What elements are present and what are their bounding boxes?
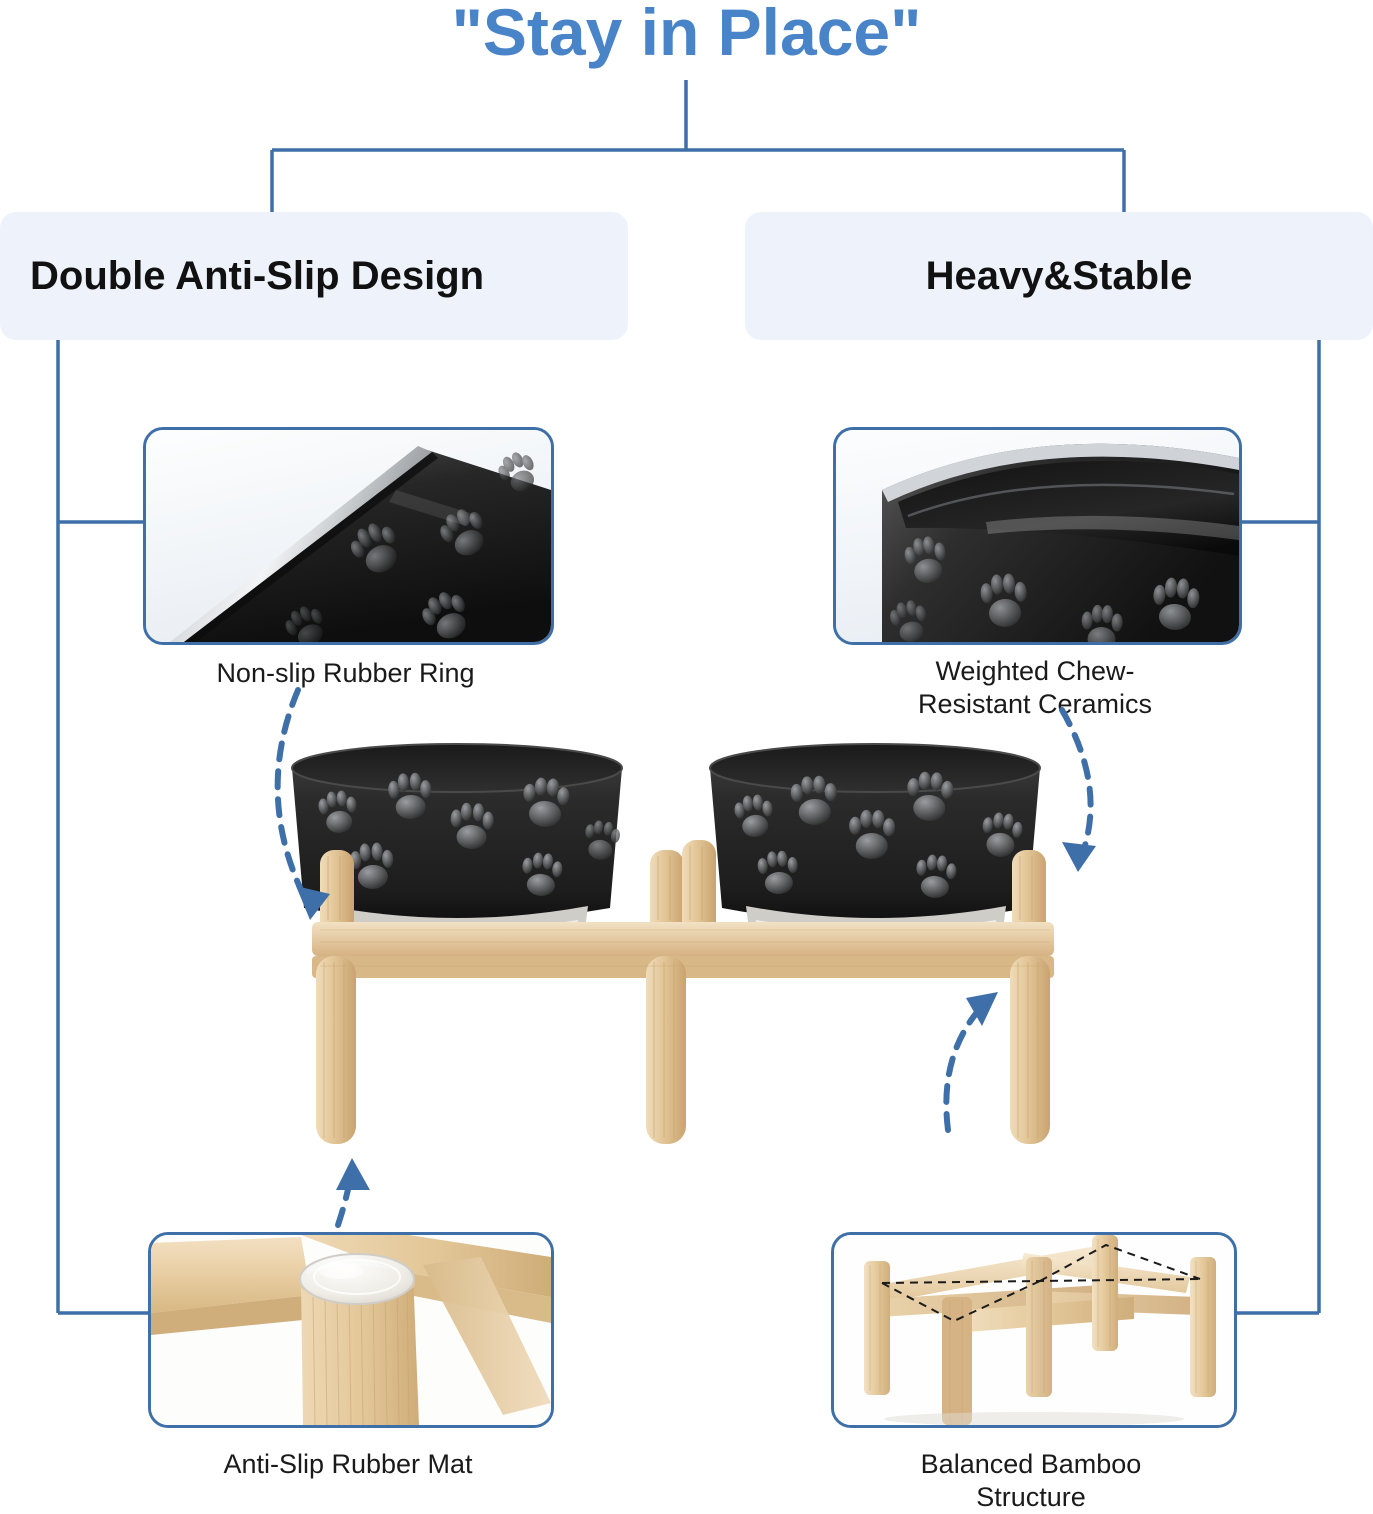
photo-weighted-chew-resistant-ceramics [833, 427, 1242, 645]
header-left-label: Double Anti-Slip Design [0, 254, 484, 299]
infographic-stage: "Stay in Place" Double Anti-Slip Design … [0, 0, 1373, 1500]
caption-anti-slip-rubber-mat: Anti-Slip Rubber Mat [148, 1448, 548, 1481]
hero-product-image [250, 690, 1130, 1190]
caption-non-slip-rubber-ring: Non-slip Rubber Ring [143, 657, 548, 690]
header-pill-double-anti-slip-design: Double Anti-Slip Design [0, 212, 628, 340]
photo-anti-slip-rubber-mat [148, 1232, 554, 1428]
photo-balanced-bamboo-structure [831, 1232, 1237, 1428]
header-right-label: Heavy&Stable [926, 254, 1193, 299]
photo-non-slip-rubber-ring [143, 427, 554, 645]
caption-balanced-bamboo-structure: Balanced Bamboo Structure [851, 1448, 1211, 1514]
header-pill-heavy-stable: Heavy&Stable [745, 212, 1373, 340]
